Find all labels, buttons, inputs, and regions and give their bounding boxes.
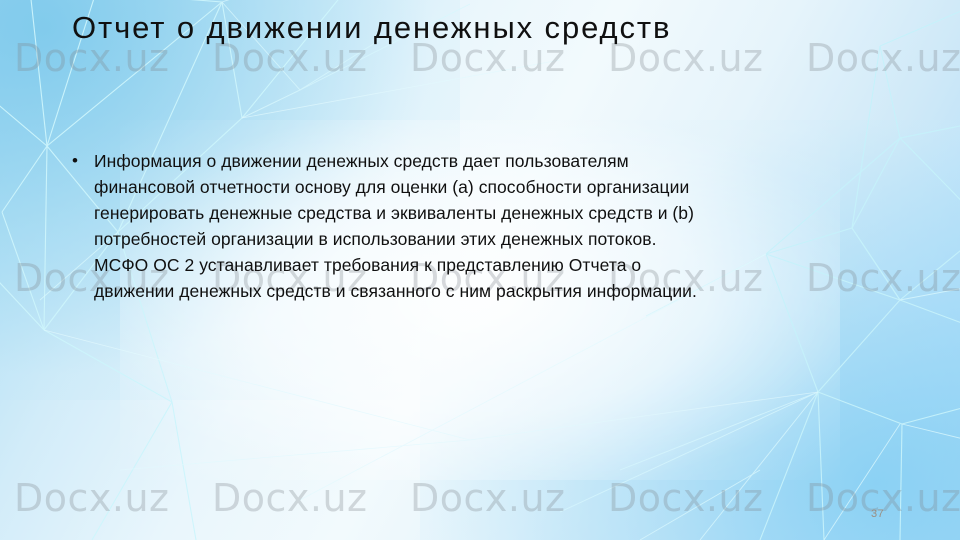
content-body: • Информация о движении денежных средств… (72, 148, 892, 304)
slide-canvas: Docx.uzDocx.uzDocx.uzDocx.uzDocx.uzDocx.… (0, 0, 960, 540)
bullet-list-item: • Информация о движении денежных средств… (72, 148, 892, 304)
bullet-item-text: Информация о движении денежных средств д… (94, 148, 714, 304)
page-title: Отчет о движении денежных средств (72, 8, 772, 47)
bullet-marker-icon: • (72, 148, 94, 174)
page-number: 37 (871, 508, 884, 520)
